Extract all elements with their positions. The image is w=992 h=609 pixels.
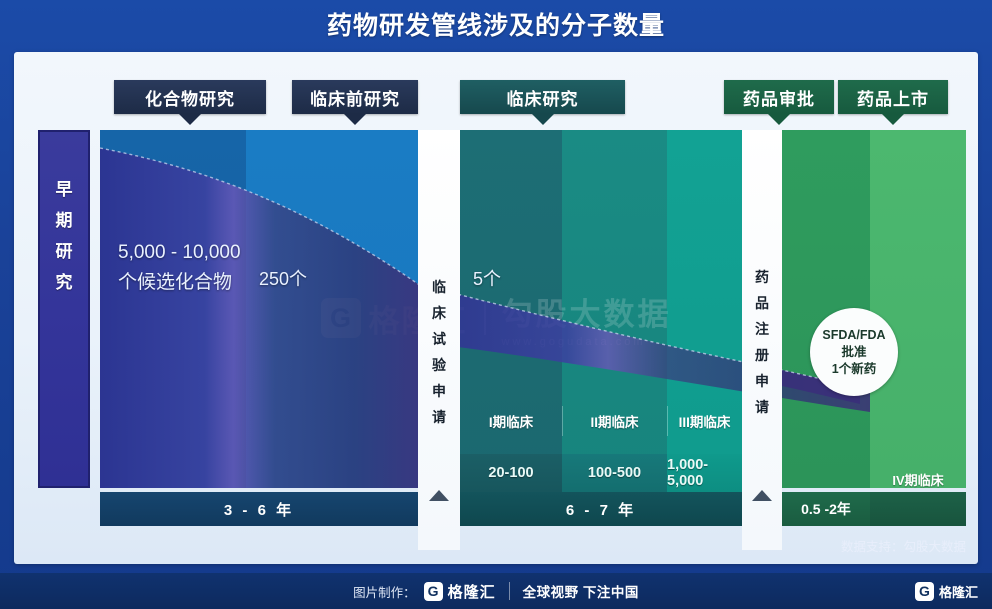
gate-ind-char: 试 xyxy=(432,326,446,352)
sidebar-char: 早 xyxy=(56,174,73,205)
gate-nda: 药 品 注 册 申 请 xyxy=(742,130,782,550)
phase-divider xyxy=(667,406,668,436)
duration-market-block xyxy=(870,492,966,526)
footer-right-brand: 格隆汇 xyxy=(939,582,978,601)
sidebar-char: 究 xyxy=(56,267,73,298)
approval-badge-line2: 批准 xyxy=(841,344,866,361)
clinical-value: 5个 xyxy=(473,264,501,294)
chart-card: G 格隆汇 勾股大数据 www.gogudata.com 早 期 研 究 xyxy=(14,52,978,564)
infographic-page: 药物研发管线涉及的分子数量 G 格隆汇 勾股大数据 www.gogudata.c… xyxy=(0,0,992,609)
gate-nda-char: 请 xyxy=(755,394,769,420)
approval-badge-line1: SFDA/FDA xyxy=(822,327,885,344)
phase3-label: III期临床 xyxy=(667,404,742,438)
header-preclinical-label: 临床前研究 xyxy=(310,85,400,110)
source-note: 数据支持：勾股大数据 xyxy=(841,536,966,555)
phase-divider xyxy=(562,406,563,436)
approval-badge-line3: 1个新药 xyxy=(832,361,876,378)
phase1-label: I期临床 xyxy=(460,404,562,438)
header-preclinical-research: 临床前研究 xyxy=(292,80,418,114)
title-bar: 药物研发管线涉及的分子数量 xyxy=(0,0,992,48)
compound-value-line1: 5,000 - 10,000 xyxy=(118,238,250,268)
gate-nda-char: 申 xyxy=(755,368,769,394)
gate-ind-char: 床 xyxy=(432,300,446,326)
header-compound-label: 化合物研究 xyxy=(145,85,235,110)
gate-ind-char: 申 xyxy=(432,378,446,404)
footer-logo-icon: G xyxy=(424,582,443,601)
duration-early: 3 - 6 年 xyxy=(100,492,418,526)
gate-ind-arrow-icon xyxy=(429,490,449,501)
header-notch-icon xyxy=(532,114,554,125)
gate-ind: 临 床 试 验 申 请 xyxy=(418,130,460,550)
footer-brand: 格隆汇 xyxy=(448,581,496,602)
header-compound-research: 化合物研究 xyxy=(114,80,266,114)
footer-right-logo: G 格隆汇 xyxy=(915,582,978,601)
gate-ind-char: 请 xyxy=(432,404,446,430)
gate-nda-char: 注 xyxy=(755,316,769,342)
header-notch-icon xyxy=(768,114,790,125)
header-drug-market: 药品上市 xyxy=(838,80,948,114)
approval-badge: SFDA/FDA 批准 1个新药 xyxy=(810,308,898,396)
sidebar-char: 研 xyxy=(56,236,73,267)
gate-nda-char: 册 xyxy=(755,342,769,368)
column-preclinical-research xyxy=(246,130,418,488)
duration-approval: 0.5 -2年 xyxy=(782,492,870,526)
compound-value-line2: 个候选化合物 xyxy=(118,268,250,298)
header-market-label: 药品上市 xyxy=(857,85,929,110)
footer-made-by-label: 图片制作： xyxy=(353,582,416,601)
phase2-label: II期临床 xyxy=(562,404,667,438)
header-notch-icon xyxy=(344,114,366,125)
header-notch-icon xyxy=(882,114,904,125)
gate-nda-char: 品 xyxy=(755,290,769,316)
page-title: 药物研发管线涉及的分子数量 xyxy=(327,6,665,42)
column-compound-research xyxy=(100,130,246,488)
sidebar-early-research: 早 期 研 究 xyxy=(38,130,90,488)
duration-clinical: 6 - 7 年 xyxy=(460,492,742,526)
gate-nda-char: 药 xyxy=(755,264,769,290)
sidebar-char: 期 xyxy=(56,205,73,236)
footer-slogan: 全球视野 下注中国 xyxy=(523,581,639,601)
phase1-participants: 20-100 xyxy=(460,454,562,492)
header-clinical-label: 临床研究 xyxy=(507,85,579,110)
preclinical-value: 250个 xyxy=(259,264,307,294)
phase3-participants: 1,000-5,000 xyxy=(667,454,742,492)
gate-ind-char: 临 xyxy=(432,274,446,300)
phase4-label: IV期临床 xyxy=(870,464,966,494)
gate-nda-arrow-icon xyxy=(752,490,772,501)
column-drug-market xyxy=(870,130,966,488)
gate-ind-char: 验 xyxy=(432,352,446,378)
header-notch-icon xyxy=(179,114,201,125)
compound-value: 5,000 - 10,000 个候选化合物 xyxy=(118,238,250,298)
footer-bar: 图片制作： G 格隆汇 全球视野 下注中国 G 格隆汇 xyxy=(0,573,992,609)
footer-right-logo-icon: G xyxy=(915,582,934,601)
header-approval-label: 药品审批 xyxy=(743,85,815,110)
header-clinical-research: 临床研究 xyxy=(460,80,625,114)
footer-divider xyxy=(509,582,510,600)
phase2-participants: 100-500 xyxy=(562,454,667,492)
header-drug-approval: 药品审批 xyxy=(724,80,834,114)
